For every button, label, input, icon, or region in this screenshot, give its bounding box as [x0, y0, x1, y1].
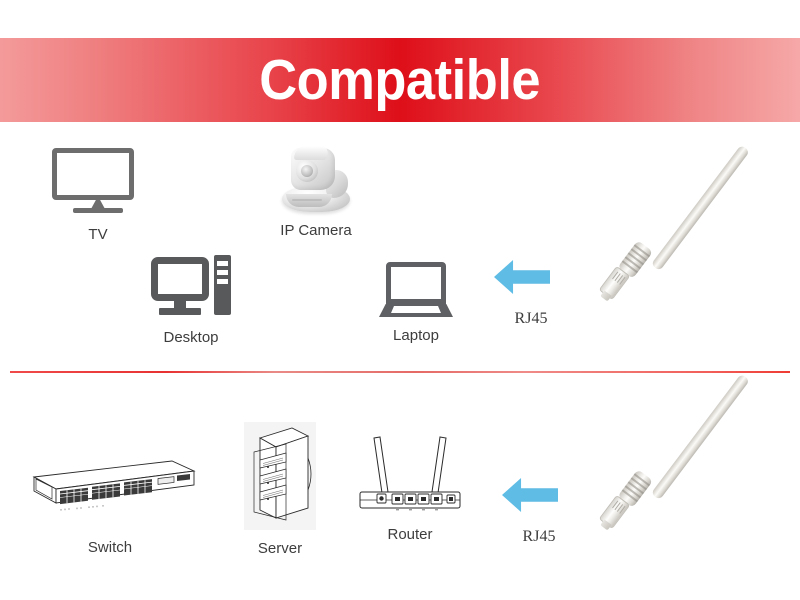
device-server: Server [244, 422, 316, 557]
laptop-keyboard [391, 306, 441, 313]
device-laptop: Laptop [378, 262, 454, 344]
ethernet-patch-cable-bottom [600, 395, 800, 555]
camera-lens-inner [301, 165, 313, 177]
tower-bay [217, 261, 228, 266]
device-label-desktop: Desktop [138, 329, 244, 346]
tower-bay [217, 270, 228, 275]
laptop-icon [379, 262, 453, 317]
device-desktop: Desktop [138, 255, 244, 346]
plug-latch [600, 519, 611, 530]
tv-screen [52, 148, 134, 200]
desktop-monitor [151, 257, 209, 301]
device-label-server: Server [244, 540, 316, 557]
device-label-switch: Switch [22, 539, 198, 556]
wireless-router-icon [352, 430, 468, 516]
cable-jacket [651, 374, 750, 500]
laptop-lid [386, 262, 446, 304]
server-rack-icon [244, 422, 316, 530]
section-divider [10, 371, 790, 373]
rj45-label-bottom: RJ45 [502, 528, 576, 546]
server-drawing [244, 422, 316, 530]
rj45-label-top: RJ45 [494, 310, 568, 328]
connector-bottom: RJ45 [502, 478, 576, 546]
tv-icon [52, 148, 144, 216]
desktop-tower [214, 255, 231, 315]
tower-bay [217, 279, 228, 284]
router-drawing [352, 430, 468, 516]
connector-top: RJ45 [494, 260, 568, 328]
device-label-laptop: Laptop [378, 327, 454, 344]
ip-camera-icon [280, 144, 352, 214]
tv-base [73, 208, 123, 213]
network-switch-icon [22, 455, 198, 517]
device-router: Router [352, 430, 468, 543]
desktop-monitor-foot [159, 308, 201, 315]
arrow-left-icon [494, 260, 550, 294]
switch-drawing [22, 455, 198, 517]
device-label-router: Router [352, 526, 468, 543]
device-switch: Switch [22, 455, 198, 556]
camera-top-shell [294, 146, 330, 160]
page-title: Compatible [260, 52, 541, 109]
device-label-ip-camera: IP Camera [278, 222, 354, 239]
arrow-left-icon [502, 478, 558, 512]
device-ip-camera: IP Camera [278, 144, 354, 239]
ethernet-patch-cable-top [600, 170, 800, 320]
desktop-computer-icon [151, 255, 231, 317]
device-label-tv: TV [48, 226, 148, 243]
device-tv: TV [48, 148, 148, 243]
camera-base-slot [292, 199, 322, 201]
header-banner: Compatible [0, 38, 800, 122]
plug-latch [600, 290, 611, 301]
cable-jacket [651, 145, 750, 271]
